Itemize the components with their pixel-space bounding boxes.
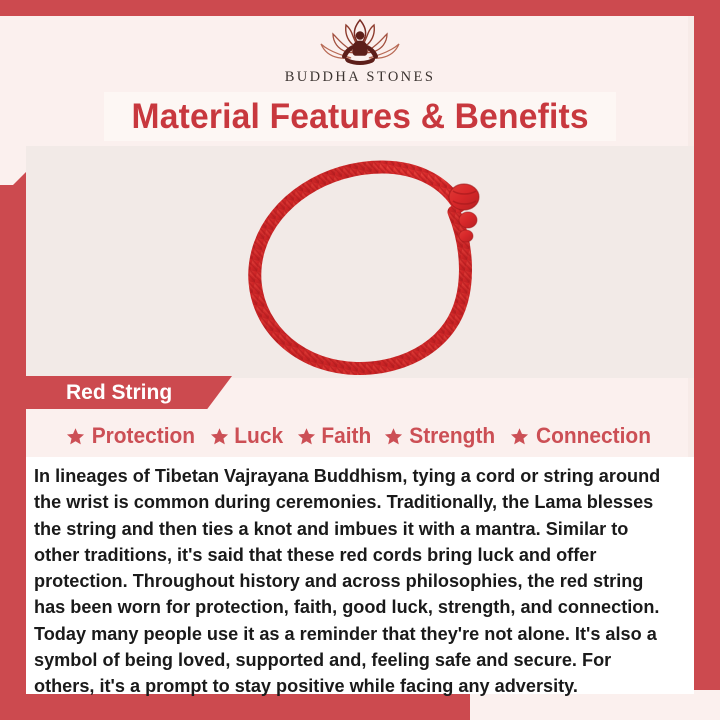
description-panel: In lineages of Tibetan Vajrayana Buddhis… <box>26 457 694 694</box>
left-border-band <box>0 185 26 720</box>
star-icon <box>384 427 403 446</box>
benefit-label: Connection <box>536 423 651 449</box>
benefit-item: Connection <box>506 423 658 449</box>
benefit-item: Luck <box>206 423 288 449</box>
title-banner: Material Features & Benefits <box>104 92 616 141</box>
benefits-row: Protection Luck Faith Strength Connectio… <box>26 418 694 454</box>
star-icon <box>210 427 229 446</box>
right-border-band <box>694 0 720 690</box>
brand-logo: BUDDHA STONES <box>0 16 720 92</box>
benefit-label: Luck <box>234 423 283 449</box>
red-braided-cord-bracelet-icon <box>232 154 500 380</box>
product-label-text: Red String <box>66 381 172 405</box>
top-border-band <box>0 0 720 16</box>
benefit-item: Faith <box>293 423 377 449</box>
benefit-item: Strength <box>380 423 501 449</box>
page-title: Material Features & Benefits <box>131 97 588 137</box>
brand-name: BUDDHA STONES <box>285 69 436 86</box>
benefit-label: Faith <box>321 423 371 449</box>
benefit-label: Protection <box>92 423 195 449</box>
infographic-page: BUDDHA STONES Material Features & Benefi… <box>0 0 720 720</box>
lotus-meditation-icon <box>312 16 408 68</box>
description-text: In lineages of Tibetan Vajrayana Buddhis… <box>34 463 664 700</box>
star-icon <box>510 427 529 446</box>
benefit-label: Strength <box>409 423 495 449</box>
star-icon <box>66 427 85 446</box>
star-icon <box>297 427 316 446</box>
benefit-item: Protection <box>62 423 202 449</box>
product-label-banner: Red String <box>26 376 232 409</box>
